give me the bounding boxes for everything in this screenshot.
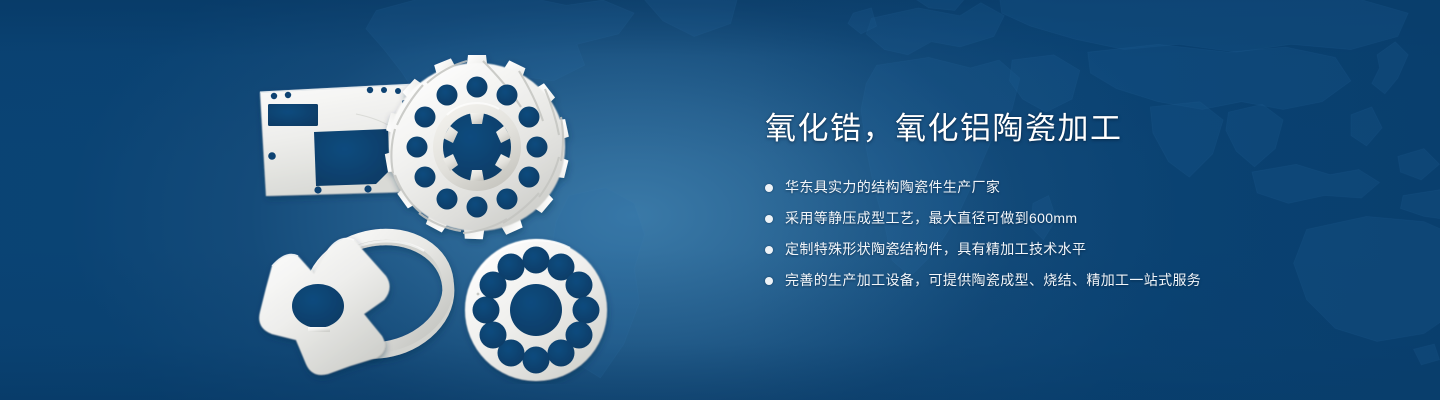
bullet-text: 华东具实力的结构陶瓷件生产厂家 (785, 177, 1000, 198)
bullet-text: 采用等静压成型工艺，最大直径可做到600mm (785, 208, 1077, 229)
bullet-text: 定制特殊形状陶瓷结构件，具有精加工技术水平 (785, 239, 1086, 260)
ceramic-cross-shaped-part (259, 238, 389, 375)
list-item: 采用等静压成型工艺，最大直径可做到600mm (765, 208, 1385, 229)
bullet-dot-icon (765, 246, 773, 254)
list-item: 完善的生产加工设备，可提供陶瓷成型、烧结、精加工一站式服务 (765, 270, 1385, 291)
ceramic-perforated-disc (465, 239, 607, 381)
list-item: 华东具实力的结构陶瓷件生产厂家 (765, 177, 1385, 198)
banner-copy: 氧化锆，氧化铝陶瓷加工 华东具实力的结构陶瓷件生产厂家 采用等静压成型工艺，最大… (765, 110, 1385, 291)
promo-banner: 氧化锆，氧化铝陶瓷加工 华东具实力的结构陶瓷件生产厂家 采用等静压成型工艺，最大… (0, 0, 1440, 400)
product-photo (236, 44, 688, 384)
list-item: 定制特殊形状陶瓷结构件，具有精加工技术水平 (765, 239, 1385, 260)
bullet-dot-icon (765, 184, 773, 192)
bullet-dot-icon (765, 215, 773, 223)
bullet-text: 完善的生产加工设备，可提供陶瓷成型、烧结、精加工一站式服务 (785, 270, 1201, 291)
bullet-dot-icon (765, 277, 773, 285)
feature-bullet-list: 华东具实力的结构陶瓷件生产厂家 采用等静压成型工艺，最大直径可做到600mm 定… (765, 177, 1385, 291)
ceramic-vaned-impeller (384, 55, 570, 239)
banner-headline: 氧化锆，氧化铝陶瓷加工 (765, 110, 1385, 148)
